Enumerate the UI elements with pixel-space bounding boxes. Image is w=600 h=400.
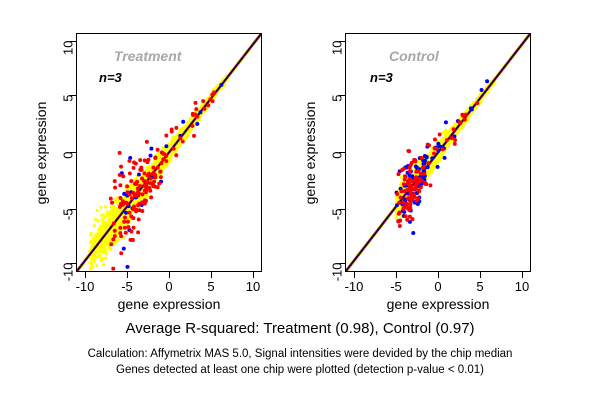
x-tick-mark <box>396 272 397 278</box>
y-tick-label: 5 <box>331 95 344 125</box>
x-axis-title: gene expression <box>345 296 531 312</box>
caption-subtitle-calculation: Calculation: Affymetrix MAS 5.0, Signal … <box>0 348 600 360</box>
panel-control: 10 5 0 -5 -10 -10 -5 0 5 10 gene express… <box>300 0 600 312</box>
y-tick-label: -10 <box>331 263 344 293</box>
x-tick-label: 10 <box>246 280 260 293</box>
x-tick-mark <box>253 272 254 278</box>
panel-title-treatment: Treatment <box>114 48 181 64</box>
gene-expression-figure: 10 5 0 -5 -10 -10 -5 0 5 10 gene express… <box>0 0 600 400</box>
panel-n-treatment: n=3 <box>99 70 122 85</box>
x-tick-label: 0 <box>434 280 441 293</box>
y-axis-title: gene expression <box>302 73 318 233</box>
x-tick-mark <box>211 272 212 278</box>
y-tick-label: 10 <box>62 41 75 71</box>
x-tick-label: 0 <box>165 280 172 293</box>
panel-n-control: n=3 <box>370 70 393 85</box>
scatter-panels: 10 5 0 -5 -10 -10 -5 0 5 10 gene express… <box>0 0 600 312</box>
x-tick-label: -5 <box>390 280 402 293</box>
x-tick-mark <box>438 272 439 278</box>
y-tick-label: 0 <box>62 152 75 182</box>
y-tick-label: 0 <box>331 152 344 182</box>
x-tick-label: -10 <box>345 280 364 293</box>
x-tick-mark <box>169 272 170 278</box>
y-tick-label: 5 <box>62 95 75 125</box>
x-axis-title: gene expression <box>76 296 262 312</box>
x-tick-mark <box>85 272 86 278</box>
plot-area-treatment <box>76 33 262 272</box>
y-tick-label: -5 <box>331 209 344 239</box>
x-tick-label: 5 <box>476 280 483 293</box>
y-tick-label: 10 <box>331 41 344 71</box>
plot-area-control <box>345 33 531 272</box>
y-axis-title: gene expression <box>33 73 49 233</box>
x-tick-label: -5 <box>121 280 133 293</box>
panel-treatment: 10 5 0 -5 -10 -10 -5 0 5 10 gene express… <box>0 0 300 312</box>
caption-main: Average R-squared: Treatment (0.98), Con… <box>0 320 600 337</box>
x-tick-mark <box>354 272 355 278</box>
panel-title-control: Control <box>389 48 439 64</box>
x-tick-mark <box>127 272 128 278</box>
caption-subtitle-detection: Genes detected at least one chip were pl… <box>0 364 600 376</box>
x-tick-mark <box>522 272 523 278</box>
x-tick-mark <box>480 272 481 278</box>
y-tick-label: -5 <box>62 209 75 239</box>
x-tick-label: 10 <box>515 280 529 293</box>
y-tick-label: -10 <box>62 263 75 293</box>
x-tick-label: 5 <box>207 280 214 293</box>
x-tick-label: -10 <box>76 280 95 293</box>
